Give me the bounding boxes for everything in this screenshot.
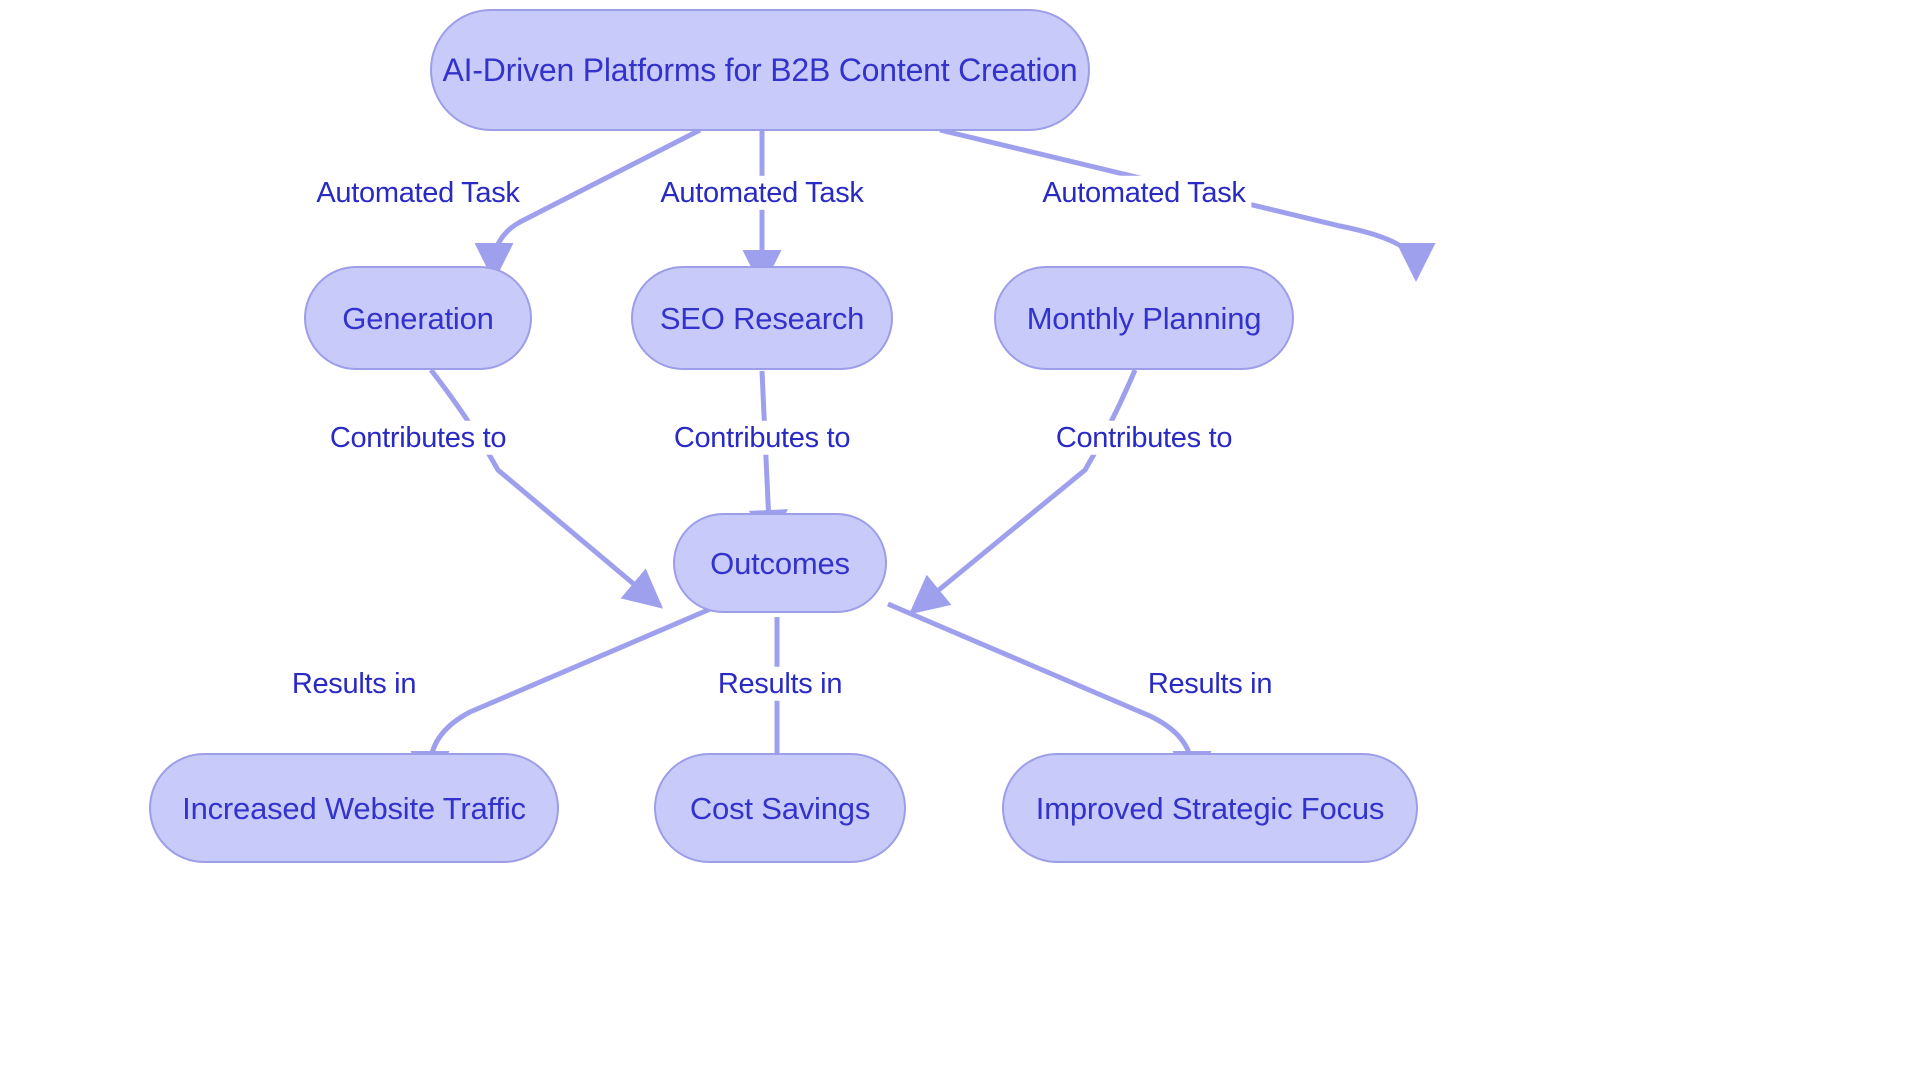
flowchart-diagram: AI-Driven Platforms for B2B Content Crea… bbox=[0, 0, 1920, 1083]
edge-label-root-to-monthly-planning: Automated Task bbox=[1036, 176, 1251, 210]
node-cost-savings[interactable]: Cost Savings bbox=[654, 753, 906, 863]
node-root-label: AI-Driven Platforms for B2B Content Crea… bbox=[442, 54, 1077, 86]
edge-label-monthly-planning-to-outcomes: Contributes to bbox=[1050, 421, 1238, 455]
node-improved-strategic-focus[interactable]: Improved Strategic Focus bbox=[1002, 753, 1418, 863]
node-seo-research-label: SEO Research bbox=[660, 303, 864, 334]
node-generation-label: Generation bbox=[342, 303, 493, 334]
node-increased-website-traffic-label: Increased Website Traffic bbox=[182, 793, 526, 824]
edge-label-root-to-generation: Automated Task bbox=[310, 176, 525, 210]
node-cost-savings-label: Cost Savings bbox=[690, 793, 870, 824]
edge-label-generation-to-outcomes: Contributes to bbox=[324, 421, 512, 455]
node-seo-research[interactable]: SEO Research bbox=[631, 266, 893, 370]
node-increased-website-traffic[interactable]: Increased Website Traffic bbox=[149, 753, 559, 863]
edge-generation-to-outcomes bbox=[431, 370, 660, 606]
edge-label-outcomes-to-improved-strategic-focus: Results in bbox=[1142, 667, 1278, 701]
node-improved-strategic-focus-label: Improved Strategic Focus bbox=[1036, 793, 1384, 824]
edge-monthly-planning-to-outcomes bbox=[912, 370, 1135, 612]
node-generation[interactable]: Generation bbox=[304, 266, 532, 370]
node-monthly-planning-label: Monthly Planning bbox=[1027, 303, 1262, 334]
edge-label-outcomes-to-cost-savings: Results in bbox=[712, 667, 848, 701]
edge-label-seo-research-to-outcomes: Contributes to bbox=[668, 421, 856, 455]
node-outcomes[interactable]: Outcomes bbox=[673, 513, 887, 613]
edge-label-root-to-seo-research: Automated Task bbox=[654, 176, 869, 210]
node-monthly-planning[interactable]: Monthly Planning bbox=[994, 266, 1294, 370]
edge-label-outcomes-to-increased-website-traffic: Results in bbox=[286, 667, 422, 701]
node-root[interactable]: AI-Driven Platforms for B2B Content Crea… bbox=[430, 9, 1090, 131]
node-outcomes-label: Outcomes bbox=[710, 548, 850, 579]
edge-layer bbox=[0, 0, 1920, 1083]
